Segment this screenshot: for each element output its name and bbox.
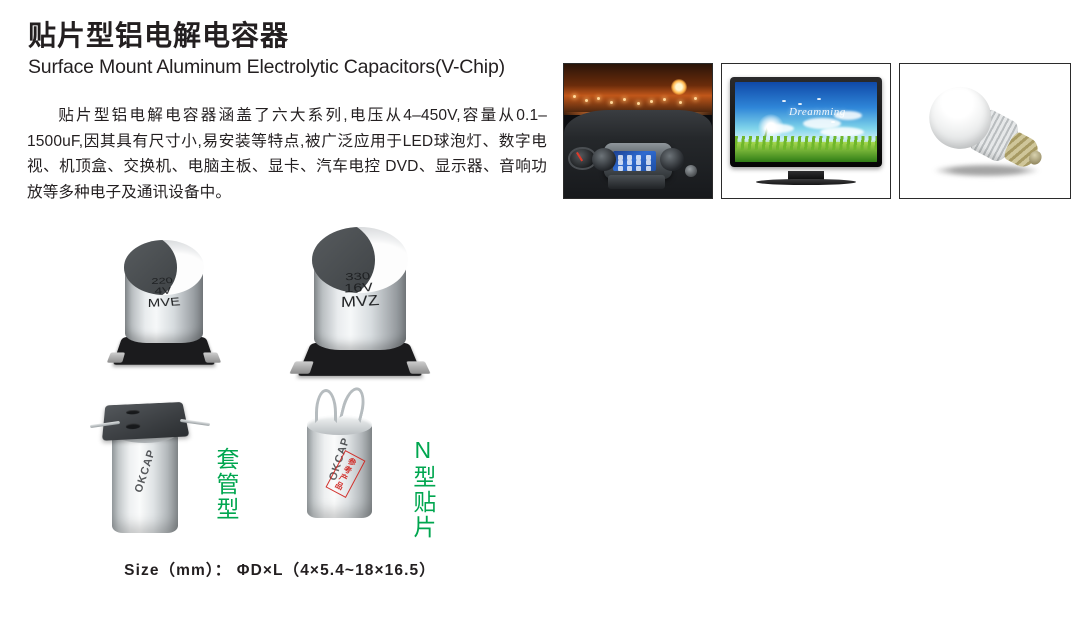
television-illustration: Dreamming: [722, 64, 890, 198]
capacitor-can: OKCAP: [112, 429, 179, 533]
capacitor-brand-print: OKCAP: [129, 437, 161, 504]
capacitor-photo-gallery: 220 4V MVE 330 16V MVZ: [0, 215, 560, 555]
led-bulb-photo: [899, 63, 1071, 199]
left-column: 贴片型铝电解电容器 Surface Mount Aluminum Electro…: [0, 0, 560, 635]
capacitor-top-face: [124, 240, 205, 295]
car-dashboard-illustration: [564, 64, 712, 198]
sleeve-type-capacitor: OKCAP: [100, 393, 198, 533]
n-type-capacitor: OKCAP 参考产品: [295, 385, 391, 535]
right-column: Dreamming: [560, 0, 1073, 635]
street-lights: [564, 93, 712, 109]
air-vent: [660, 148, 684, 171]
sleeve-type-label: 套管型: [213, 447, 238, 522]
smd-capacitor-mvz: 330 16V MVZ: [305, 227, 415, 377]
led-bulb-illustration: [900, 64, 1070, 198]
size-specification: Size（mm）： ΦD×L（4×5.4~18×16.5）: [0, 558, 560, 580]
dashboard-knob: [685, 165, 697, 177]
capacitor-lead-hook: [339, 385, 369, 423]
grass-field: [735, 142, 876, 163]
capacitor-top-face: [312, 227, 409, 293]
digital-tv-photo: Dreamming: [721, 63, 891, 199]
dashboard: [564, 110, 712, 198]
climate-control-panel: [608, 175, 664, 189]
page-title: 贴片型铝电解电容器: [28, 14, 289, 54]
base-vent-hole: [126, 423, 140, 429]
application-photo-strip: Dreamming: [563, 63, 1071, 199]
page-subtitle-english: Surface Mount Aluminum Electrolytic Capa…: [28, 56, 505, 79]
tv-bezel: Dreamming: [730, 77, 881, 167]
smd-capacitor-mve: 220 4V MVE: [118, 240, 210, 365]
car-dvd-photo: [563, 63, 713, 199]
tv-stand-foot: [756, 179, 856, 184]
n-type-label: N型贴片: [410, 437, 435, 540]
sun-icon: [671, 79, 687, 95]
tv-set: Dreamming: [730, 77, 881, 184]
tv-screen: Dreamming: [735, 82, 876, 162]
base-vent-hole: [126, 410, 140, 416]
head-unit-screen: [613, 151, 655, 172]
capacitor-lead-hook: [315, 389, 337, 423]
intro-paragraph: 贴片型铝电解电容器涵盖了六大系列,电压从4–450V,容量从0.1–1500uF…: [27, 103, 547, 205]
tv-screen-text: Dreamming: [789, 106, 846, 118]
